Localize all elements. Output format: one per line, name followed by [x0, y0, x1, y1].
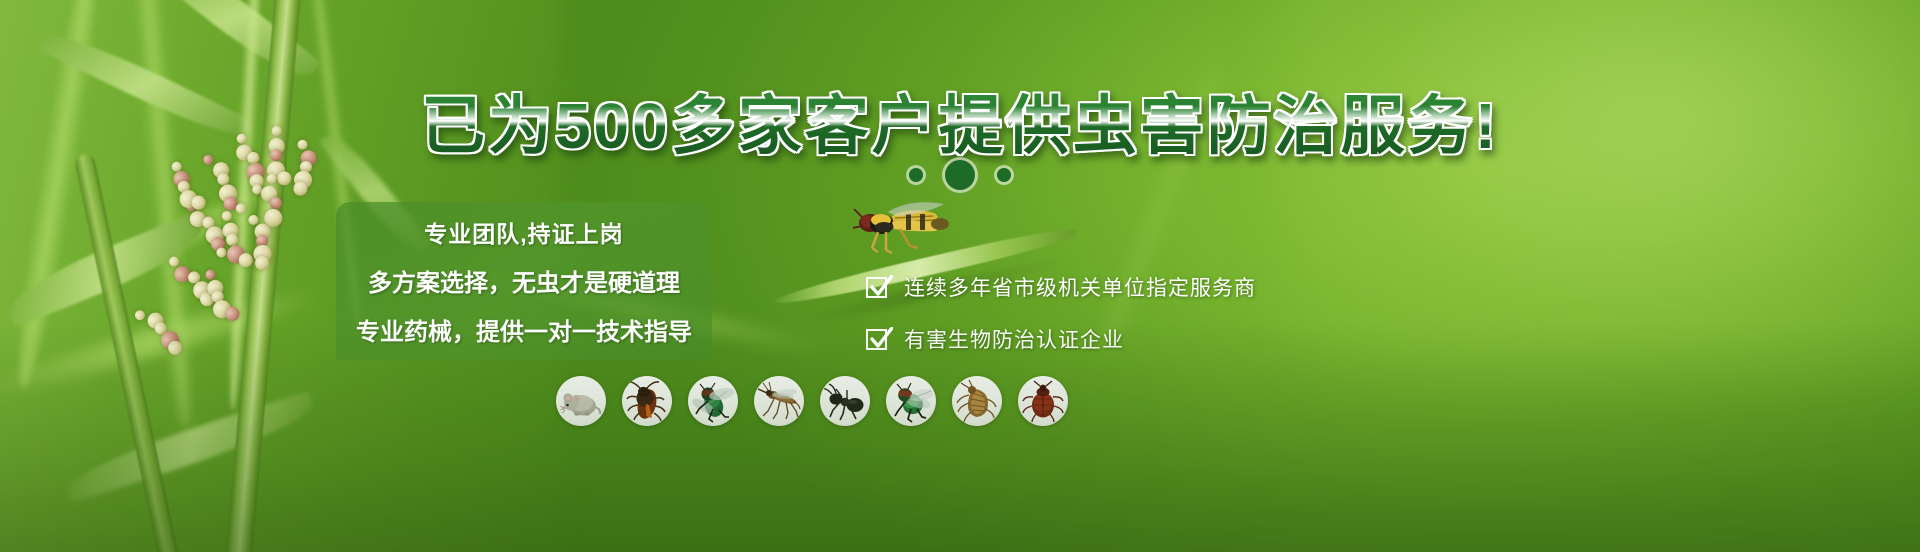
- hoverfly-illustration: [848, 196, 958, 258]
- decor-dots-row: [0, 160, 1920, 190]
- decor-dot-small-left: [909, 168, 923, 182]
- bottom-vignette: [0, 322, 1920, 552]
- pest-control-hero-banner: 已为500多家客户提供虫害防治服务! 专业团队,持证上岗 多方案选择，无虫才是硬…: [0, 0, 1920, 552]
- panel-line-2: 多方案选择，无虫才是硬道理: [368, 263, 680, 298]
- feature-label: 连续多年省市级机关单位指定服务商: [904, 272, 1256, 302]
- decor-dot-large-center: [945, 160, 975, 190]
- panel-line-1: 专业团队,持证上岗: [424, 215, 623, 249]
- check-box-icon: [866, 275, 891, 300]
- feature-item: 连续多年省市级机关单位指定服务商: [866, 272, 1256, 302]
- decor-dot-small-right: [997, 168, 1011, 182]
